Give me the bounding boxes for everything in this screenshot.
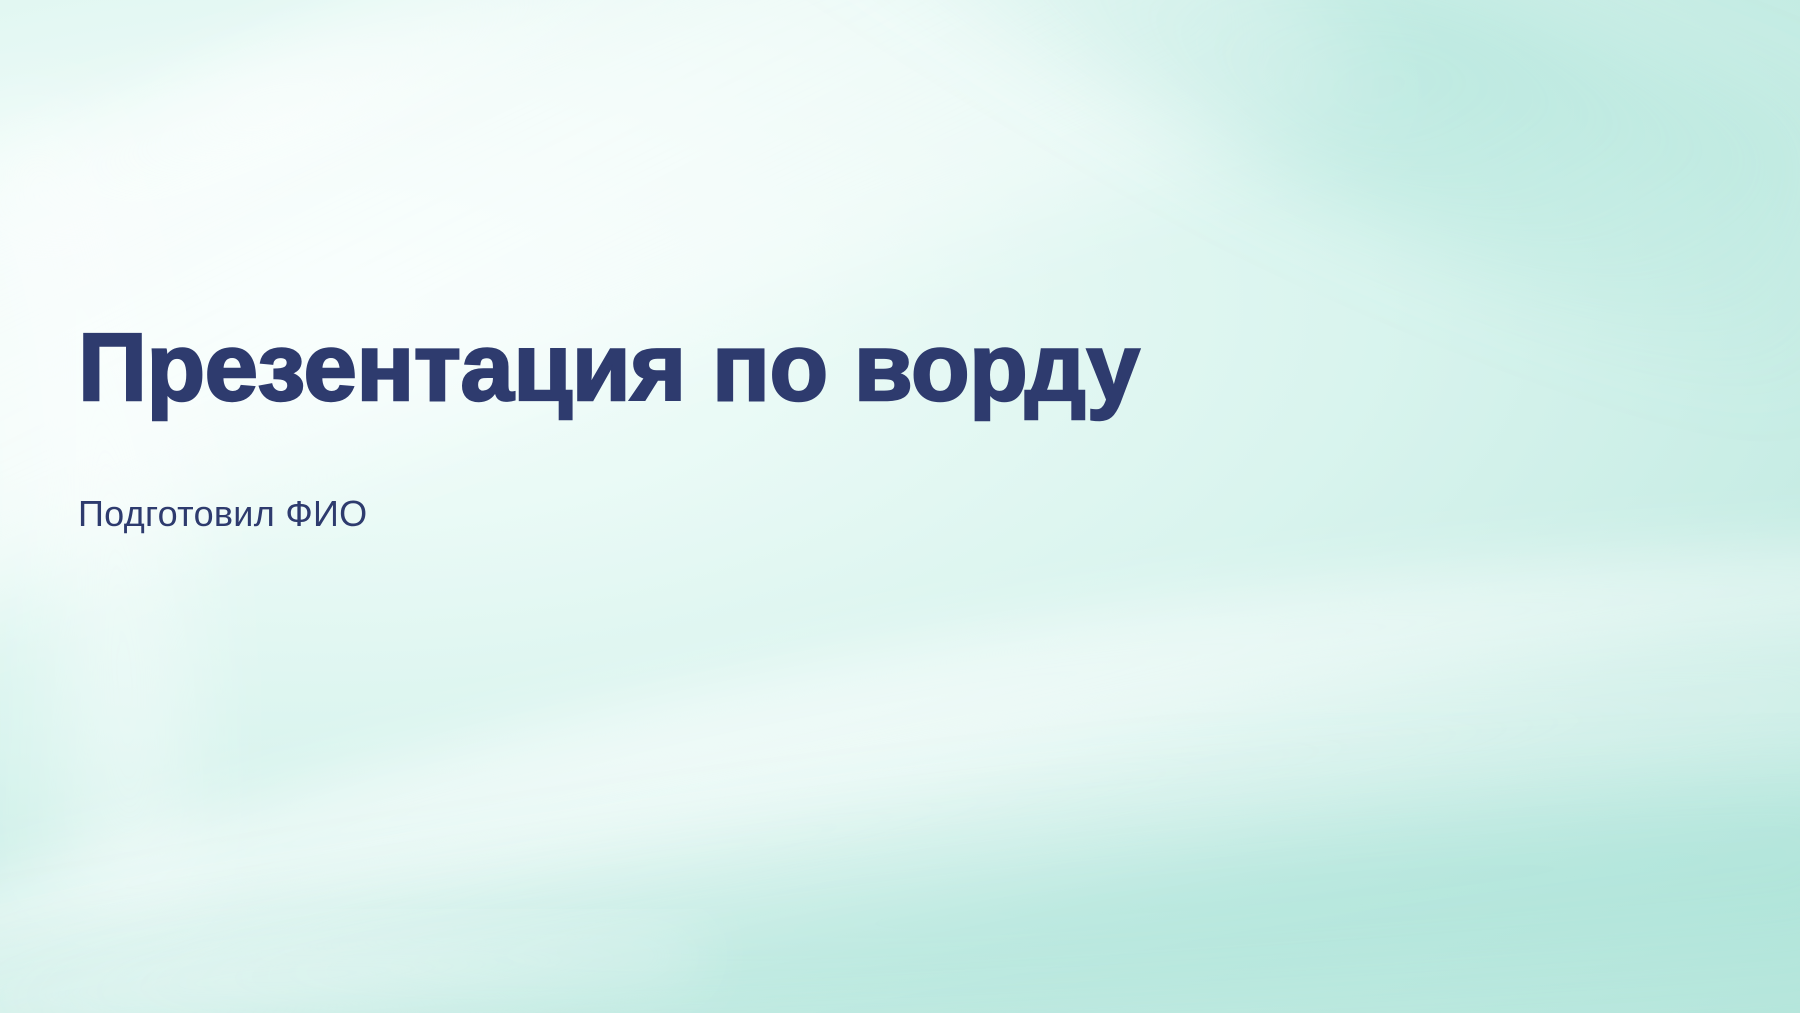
presentation-slide: Презентация по ворду Подготовил ФИО [0, 0, 1800, 1013]
slide-text-block: Презентация по ворду Подготовил ФИО [78, 318, 1638, 535]
slide-subtitle: Подготовил ФИО [78, 418, 1638, 535]
slide-title: Презентация по ворду [78, 318, 1638, 418]
